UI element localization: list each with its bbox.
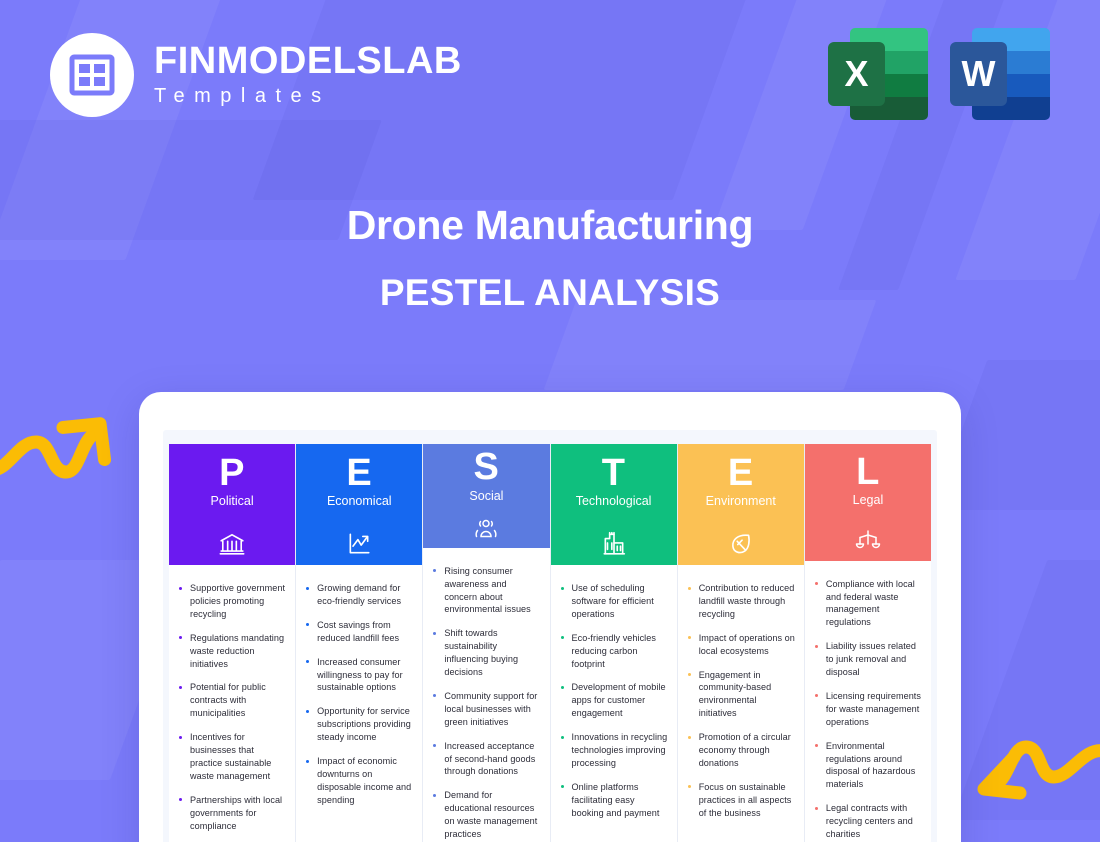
list-item: Promotion of a circular economy through … [684,731,795,770]
pestel-letter: P [219,455,245,491]
pestel-items-technological: Use of scheduling software for efficient… [557,582,668,820]
list-item: Licensing requirements for waste managem… [811,690,922,729]
pestel-items-environment: Contribution to reduced landfill waste t… [684,582,795,820]
pestel-letter: E [728,455,754,491]
excel-icon-letter: X [828,42,885,106]
pestel-letter: T [602,455,626,491]
list-item: Partnerships with local governments for … [175,794,286,833]
list-item: Opportunity for service subscriptions pr… [302,705,413,744]
pestel-column-economical[interactable]: E Economical Growing demand for eco-frie… [296,444,423,842]
pestel-items-social: Rising consumer awareness and concern ab… [429,565,540,841]
word-icon-letter: W [950,42,1007,106]
list-item: Engagement in community-based environmen… [684,669,795,721]
list-item: Impact of operations on local ecosystems [684,632,795,658]
list-item: Growing demand for eco-friendly services [302,582,413,608]
excel-icon: X [828,28,928,120]
list-item: Legal contracts with recycling centers a… [811,802,922,841]
pestel-items-economical: Growing demand for eco-friendly services… [302,582,413,807]
page-title-block: Drone Manufacturing PESTEL ANALYSIS [0,200,1100,314]
list-item: Cost savings from reduced landfill fees [302,619,413,645]
page-header: FINMODELSLAB Templates X W [0,0,1100,150]
list-item: Supportive government policies promoting… [175,582,286,621]
squiggly-arrow-down-left-icon [966,733,1100,830]
scales-of-justice-icon [805,519,931,563]
squiggly-arrow-up-right-icon [0,398,128,493]
list-item: Use of scheduling software for efficient… [557,582,668,621]
list-item: Innovations in recycling technologies im… [557,731,668,770]
list-item: Community support for local businesses w… [429,690,540,729]
tablet-device-frame: P Political Supportive government polici… [139,392,961,842]
grid-squares-icon [50,33,134,117]
list-item: Increased consumer willingness to pay fo… [302,656,413,695]
list-item: Shift towards sustainability influencing… [429,627,540,679]
government-building-icon [169,522,295,568]
pestel-items-political: Supportive government policies promoting… [175,582,286,833]
pestel-table: P Political Supportive government polici… [169,444,931,842]
word-icon: W [950,28,1050,120]
leaf-icon [678,522,804,568]
pestel-items-legal: Compliance with local and federal waste … [811,578,922,841]
people-group-icon [423,511,549,551]
pestel-column-legal[interactable]: L Legal Compliance with local and federa… [805,444,931,842]
list-item: Potential for public contracts with muni… [175,681,286,720]
pestel-name: Political [211,494,254,508]
brand-name: FINMODELSLAB [154,42,462,81]
pestel-name: Environment [706,494,776,508]
brand-logo: FINMODELSLAB Templates [50,33,462,117]
list-item: Development of mobile apps for customer … [557,681,668,720]
pestel-name: Technological [576,494,652,508]
list-item: Impact of economic downturns on disposab… [302,755,413,807]
office-format-icons: X W [828,28,1050,120]
pestel-name: Economical [327,494,392,508]
pestel-letter: S [474,449,500,485]
pestel-name: Legal [853,493,884,507]
list-item: Compliance with local and federal waste … [811,578,922,630]
list-item: Increased acceptance of second-hand good… [429,740,540,779]
list-item: Liability issues related to junk removal… [811,640,922,679]
list-item: Environmental regulations around disposa… [811,740,922,792]
list-item: Demand for educational resources on wast… [429,789,540,841]
page-subtitle: PESTEL ANALYSIS [0,272,1100,314]
list-item: Rising consumer awareness and concern ab… [429,565,540,617]
pestel-column-social[interactable]: S Social Rising consumer awaren [423,444,550,842]
pestel-letter: L [856,454,880,490]
list-item: Incentives for businesses that practice … [175,731,286,783]
line-chart-icon [296,522,422,568]
list-item: Regulations mandating waste reduction in… [175,632,286,671]
list-item: Focus on sustainable practices in all as… [684,781,795,820]
pestel-letter: E [346,455,372,491]
list-item: Contribution to reduced landfill waste t… [684,582,795,621]
brand-subtitle: Templates [154,85,462,108]
list-item: Online platforms facilitating easy booki… [557,781,668,820]
factory-city-icon [551,522,677,568]
page-title: Drone Manufacturing [0,200,1100,251]
pestel-column-technological[interactable]: T Technological Use of scheduling softwa… [551,444,678,842]
list-item: Eco-friendly vehicles reducing carbon fo… [557,632,668,671]
pestel-name: Social [469,489,503,503]
pestel-column-environment[interactable]: E Environment Contribution to reduced la… [678,444,805,842]
device-screen: P Political Supportive government polici… [163,430,937,842]
pestel-column-political[interactable]: P Political Supportive government polici… [169,444,296,842]
